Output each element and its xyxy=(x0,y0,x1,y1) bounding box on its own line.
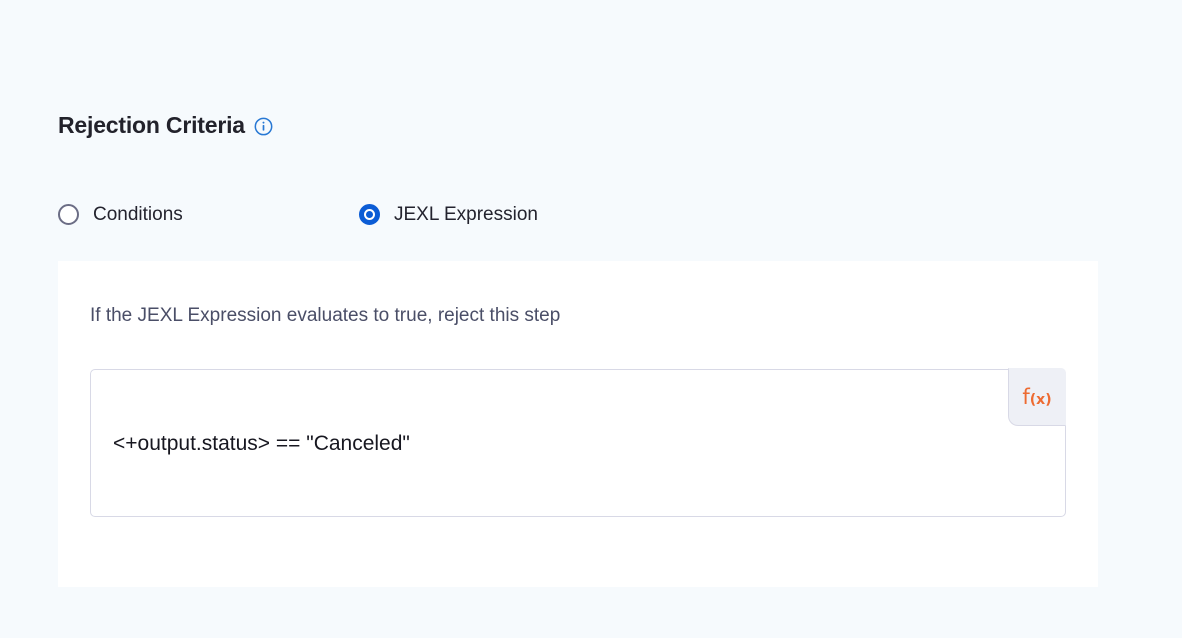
jexl-expression-panel: If the JEXL Expression evaluates to true… xyxy=(58,261,1098,587)
criteria-type-radio-group[interactable]: Conditions JEXL Expression xyxy=(58,196,538,232)
jexl-expression-value: <+output.status> == "Canceled" xyxy=(113,433,410,454)
radio-icon-jexl-expression[interactable] xyxy=(359,204,380,225)
radio-label-jexl-expression: JEXL Expression xyxy=(394,205,538,224)
fx-glyph: f(x) xyxy=(1022,387,1051,408)
radio-option-conditions[interactable]: Conditions xyxy=(58,204,359,225)
radio-label-conditions: Conditions xyxy=(93,205,183,224)
page-title: Rejection Criteria xyxy=(58,114,245,137)
info-circle-icon[interactable] xyxy=(254,117,273,136)
jexl-expression-input[interactable]: <+output.status> == "Canceled" xyxy=(90,369,1066,517)
radio-option-jexl-expression[interactable]: JEXL Expression xyxy=(359,204,538,225)
fx-label-sub: (x) xyxy=(1030,393,1052,407)
panel-description: If the JEXL Expression evaluates to true… xyxy=(90,306,560,325)
fx-label-main: f xyxy=(1022,387,1029,408)
radio-icon-conditions[interactable] xyxy=(58,204,79,225)
fx-icon[interactable]: f(x) xyxy=(1008,368,1066,426)
expression-field-wrapper: <+output.status> == "Canceled" f(x) xyxy=(90,369,1066,517)
section-header: Rejection Criteria xyxy=(58,108,273,142)
